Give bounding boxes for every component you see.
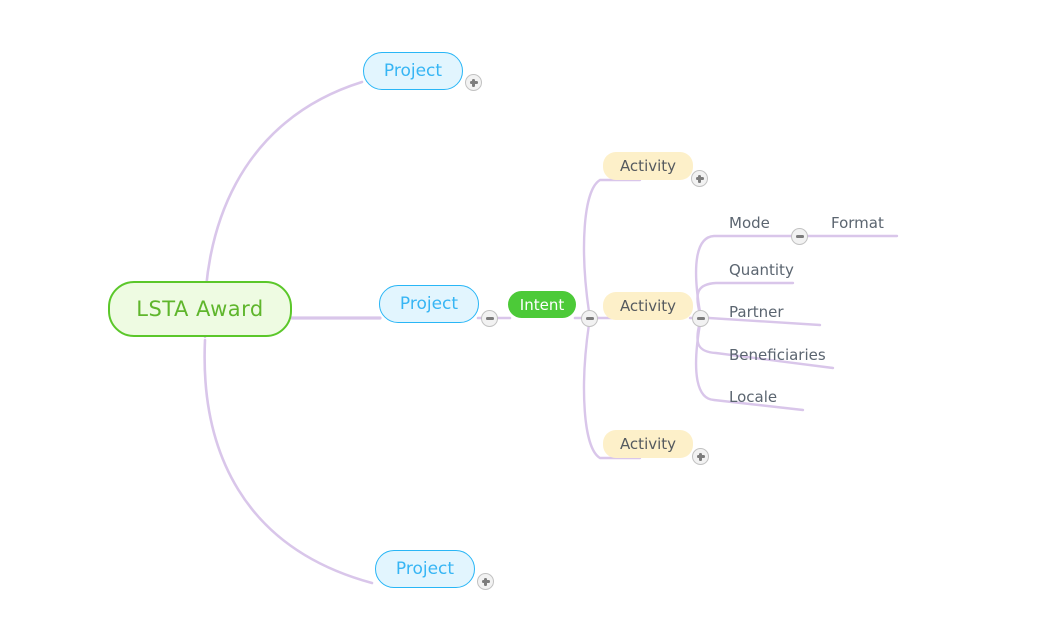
plus-icon-vertical [484, 578, 487, 586]
collapse-toggle-mode[interactable] [791, 228, 808, 245]
node-format-label: Format [831, 214, 884, 232]
node-mode[interactable]: Mode [729, 211, 799, 235]
expand-toggle-project-top[interactable] [465, 74, 482, 91]
minus-icon [486, 317, 494, 320]
node-beneficiaries-label: Beneficiaries [729, 346, 826, 364]
node-locale-label: Locale [729, 388, 777, 406]
node-locale[interactable]: Locale [729, 385, 809, 409]
node-activity-top-label: Activity [620, 157, 676, 175]
node-project-top-label: Project [384, 61, 442, 81]
node-beneficiaries[interactable]: Beneficiaries [729, 343, 839, 367]
node-format[interactable]: Format [831, 211, 911, 235]
plus-icon-vertical [472, 79, 475, 87]
node-quantity-label: Quantity [729, 261, 794, 279]
node-project-top[interactable]: Project [363, 52, 463, 90]
node-project-bottom-label: Project [396, 559, 454, 579]
node-activity-bottom-label: Activity [620, 435, 676, 453]
node-activity-mid[interactable]: Activity [603, 292, 693, 320]
node-project-mid-label: Project [400, 294, 458, 314]
expand-toggle-project-bottom[interactable] [477, 573, 494, 590]
link-root-to-project-bottom [205, 340, 372, 583]
expand-toggle-activity-bottom[interactable] [692, 448, 709, 465]
minus-icon [586, 317, 594, 320]
collapse-toggle-activity-mid[interactable] [692, 310, 709, 327]
minus-icon [796, 235, 804, 238]
node-partner-label: Partner [729, 303, 784, 321]
collapse-toggle-project-mid[interactable] [481, 310, 498, 327]
node-mode-label: Mode [729, 214, 770, 232]
minus-icon [697, 317, 705, 320]
node-intent[interactable]: Intent [508, 291, 576, 318]
node-partner[interactable]: Partner [729, 300, 819, 324]
plus-icon-vertical [699, 453, 702, 461]
node-activity-bottom[interactable]: Activity [603, 430, 693, 458]
mindmap-canvas: LSTA Award Project Project Project Inten… [0, 0, 1058, 629]
plus-icon-vertical [698, 175, 701, 183]
collapse-toggle-intent[interactable] [581, 310, 598, 327]
node-activity-mid-label: Activity [620, 297, 676, 315]
node-activity-top[interactable]: Activity [603, 152, 693, 180]
expand-toggle-activity-top[interactable] [691, 170, 708, 187]
node-quantity[interactable]: Quantity [729, 258, 819, 282]
node-project-mid[interactable]: Project [379, 285, 479, 323]
node-root[interactable]: LSTA Award [108, 281, 292, 337]
node-root-label: LSTA Award [136, 297, 263, 321]
node-project-bottom[interactable]: Project [375, 550, 475, 588]
node-intent-label: Intent [520, 296, 564, 314]
